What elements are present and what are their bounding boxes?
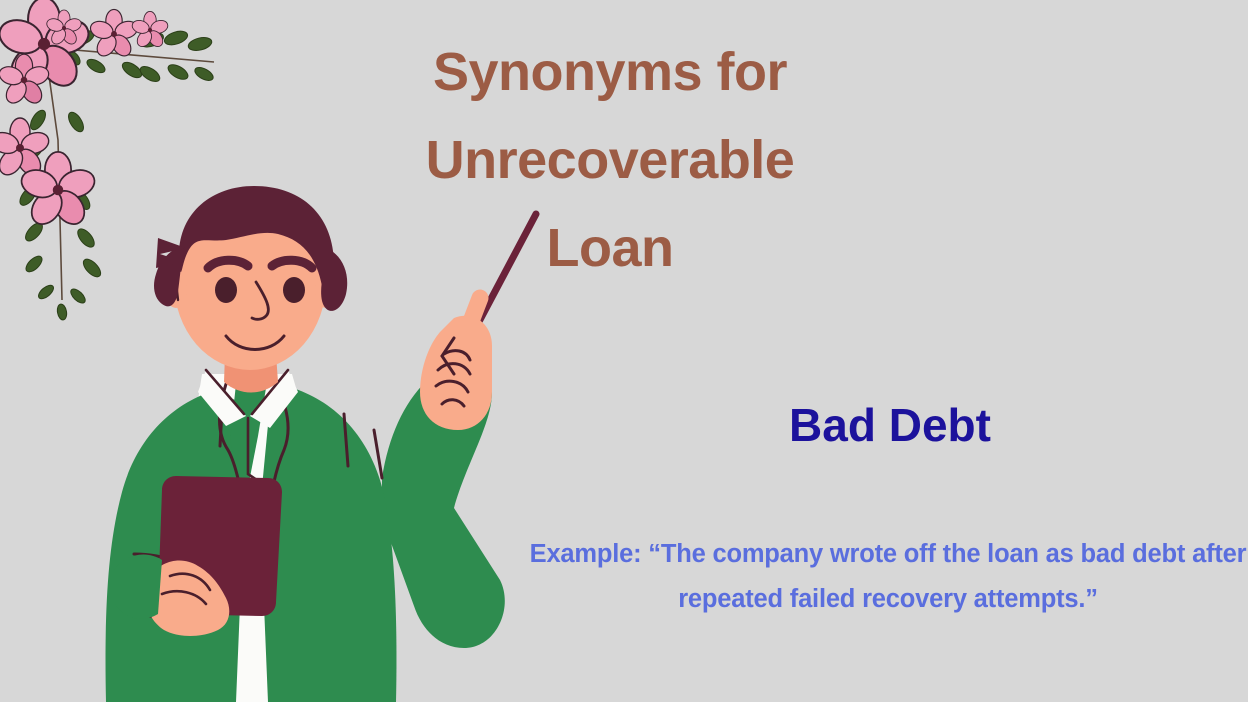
synonym-heading: Bad Debt — [620, 398, 1160, 452]
example-sentence: Example: “The company wrote off the loan… — [520, 532, 1248, 622]
eye-right — [283, 277, 305, 303]
page-title: Synonyms for Unrecoverable Loan — [330, 28, 890, 292]
title-line-2: Unrecoverable — [330, 116, 890, 204]
eye-left — [215, 277, 237, 303]
title-line-3: Loan — [330, 204, 890, 292]
raised-hand — [420, 316, 492, 430]
title-line-1: Synonyms for — [330, 28, 890, 116]
slide-canvas: Synonyms for Unrecoverable Loan Bad Debt… — [0, 0, 1248, 702]
